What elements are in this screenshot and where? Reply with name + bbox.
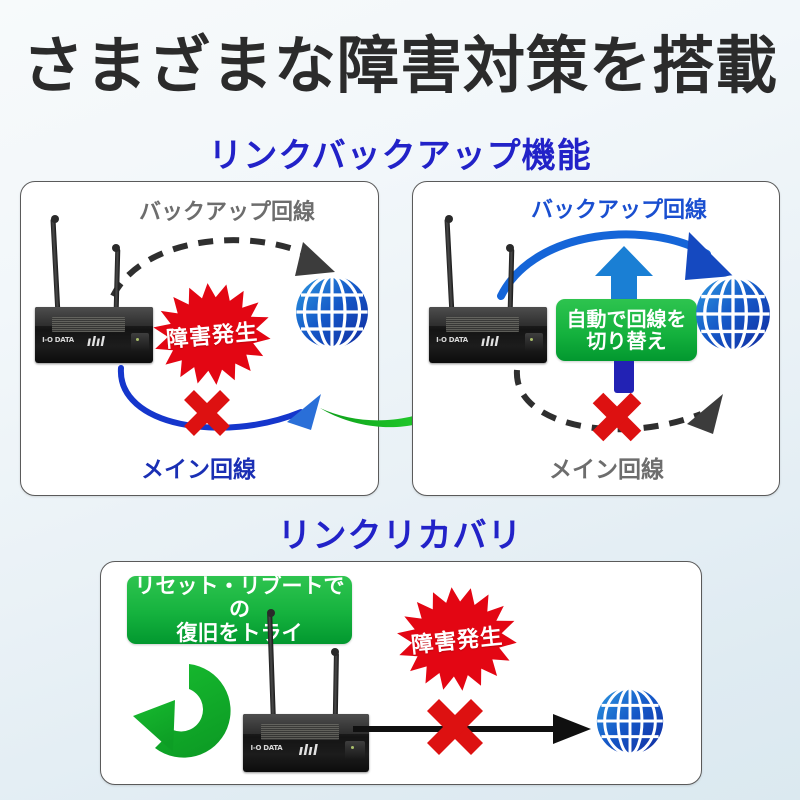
auto-switch-badge: 自動で回線を 切り替え <box>556 299 697 361</box>
globe-icon-bottom <box>595 686 665 756</box>
globe-icon-left <box>294 274 370 350</box>
burst-label-bottom: 障害発生 <box>392 580 522 698</box>
starburst-icon-bottom: 障害発生 <box>392 580 522 698</box>
up-arrow-icon <box>593 244 655 306</box>
main-line-label-left: メイン回線 <box>141 450 256 484</box>
router-device-icon: I-O DATA ılıl <box>241 612 369 772</box>
x-mark-icon-left <box>181 388 233 438</box>
globe-icon-right <box>694 275 772 353</box>
section-title-link-recovery: リンクリカバリ <box>0 508 800 557</box>
switched-state-panel: バックアップ回線 I-O DATA ılıl <box>412 181 780 496</box>
backup-line-label-left: バックアップ回線 <box>139 194 315 226</box>
x-mark-icon-bottom <box>423 696 487 758</box>
main-line-label-right: メイン回線 <box>549 450 664 484</box>
router-device-icon: I-O DATA ılıl <box>33 218 153 363</box>
badge-line2: 切り替え <box>567 330 687 352</box>
page-title: さまざまな障害対策を搭載 <box>0 32 800 100</box>
failure-state-panel: バックアップ回線 I-O DATA ılıl <box>20 181 379 496</box>
router-device-icon: I-O DATA ılıl <box>427 218 547 363</box>
infographic-stage: さまざまな障害対策を搭載 リンクバックアップ機能 バックアップ回線 I- <box>0 0 800 800</box>
x-mark-icon-right <box>589 390 645 444</box>
recycle-arrow-icon <box>129 656 237 766</box>
link-recovery-panel: リセット・リブートでの 復旧をトライ <box>100 561 702 785</box>
section-title-link-backup: リンクバックアップ機能 <box>0 128 800 177</box>
badge-line1: 自動で回線を <box>567 308 687 330</box>
